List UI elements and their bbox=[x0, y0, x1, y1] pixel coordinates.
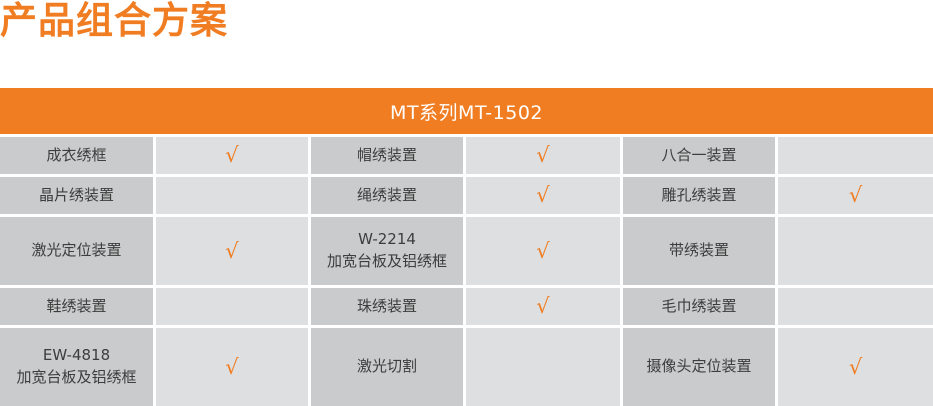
table-header-title: MT系列MT-1502 bbox=[0, 88, 933, 137]
option-label-cell: 激光定位装置 bbox=[0, 217, 156, 288]
option-label-text: 激光定位装置 bbox=[0, 240, 153, 262]
option-label-cell: 带绣装置 bbox=[623, 217, 778, 288]
option-label-cell: 帽绣装置 bbox=[311, 137, 466, 177]
option-label-cell: 摄像头定位装置 bbox=[623, 328, 778, 406]
option-label-cell: EW-4818加宽台板及铝绣框 bbox=[0, 328, 156, 406]
option-label-cell: 激光切割 bbox=[311, 328, 466, 406]
product-combination-table: MT系列MT-1502 成衣绣框√帽绣装置√八合一装置晶片绣装置绳绣装置√雕孔绣… bbox=[0, 88, 933, 406]
option-label-text: 激光切割 bbox=[311, 356, 463, 378]
option-label-text: 成衣绣框 bbox=[0, 145, 153, 167]
option-label-text: 毛巾绣装置 bbox=[623, 296, 775, 318]
option-label-cell: 晶片绣装置 bbox=[0, 177, 156, 217]
table-body: 成衣绣框√帽绣装置√八合一装置晶片绣装置绳绣装置√雕孔绣装置√激光定位装置√W-… bbox=[0, 137, 933, 406]
option-label-text: 鞋绣装置 bbox=[0, 296, 153, 318]
option-label-cell: W-2214加宽台板及铝绣框 bbox=[311, 217, 466, 288]
option-check-cell: √ bbox=[466, 177, 623, 217]
option-label-cell: 八合一装置 bbox=[623, 137, 778, 177]
table-row: 成衣绣框√帽绣装置√八合一装置 bbox=[0, 137, 933, 177]
option-check-cell: √ bbox=[778, 177, 933, 217]
option-check-cell: √ bbox=[466, 137, 623, 177]
check-icon: √ bbox=[849, 185, 862, 206]
check-icon: √ bbox=[225, 357, 238, 378]
option-label-cell: 绳绣装置 bbox=[311, 177, 466, 217]
option-label-text: 绳绣装置 bbox=[311, 185, 463, 207]
option-check-cell: √ bbox=[156, 328, 311, 406]
option-label-text: 八合一装置 bbox=[623, 145, 775, 167]
option-label-text: W-2214 bbox=[311, 229, 463, 251]
option-label-text: 雕孔绣装置 bbox=[623, 185, 775, 207]
product-combination-page: 产品组合方案 MT系列MT-1502 成衣绣框√帽绣装置√八合一装置晶片绣装置绳… bbox=[0, 0, 933, 403]
check-icon: √ bbox=[536, 145, 549, 166]
option-check-cell: √ bbox=[466, 288, 623, 328]
check-icon: √ bbox=[225, 145, 238, 166]
option-check-cell bbox=[466, 328, 623, 406]
option-check-cell bbox=[778, 137, 933, 177]
option-label-cell: 成衣绣框 bbox=[0, 137, 156, 177]
option-label-subtext: 加宽台板及铝绣框 bbox=[16, 368, 136, 386]
option-check-cell bbox=[778, 217, 933, 288]
table-row: 鞋绣装置珠绣装置√毛巾绣装置 bbox=[0, 288, 933, 328]
option-label-text: 晶片绣装置 bbox=[0, 185, 153, 207]
check-icon: √ bbox=[536, 241, 549, 262]
option-label-cell: 珠绣装置 bbox=[311, 288, 466, 328]
option-label-cell: 雕孔绣装置 bbox=[623, 177, 778, 217]
option-label-cell: 毛巾绣装置 bbox=[623, 288, 778, 328]
option-label-text: 珠绣装置 bbox=[311, 296, 463, 318]
table-row: EW-4818加宽台板及铝绣框√激光切割摄像头定位装置√ bbox=[0, 328, 933, 406]
table-row: 晶片绣装置绳绣装置√雕孔绣装置√ bbox=[0, 177, 933, 217]
option-label-text: EW-4818 bbox=[0, 345, 153, 367]
check-icon: √ bbox=[225, 241, 238, 262]
option-check-cell: √ bbox=[466, 217, 623, 288]
option-label-subtext: 加宽台板及铝绣框 bbox=[327, 252, 447, 270]
option-label-text: 带绣装置 bbox=[623, 240, 775, 262]
option-check-cell bbox=[778, 288, 933, 328]
option-check-cell: √ bbox=[156, 137, 311, 177]
table-header-row: MT系列MT-1502 bbox=[0, 88, 933, 137]
option-label-text: 帽绣装置 bbox=[311, 145, 463, 167]
option-label-cell: 鞋绣装置 bbox=[0, 288, 156, 328]
table-row: 激光定位装置√W-2214加宽台板及铝绣框√带绣装置 bbox=[0, 217, 933, 288]
option-check-cell bbox=[156, 288, 311, 328]
option-check-cell: √ bbox=[156, 217, 311, 288]
check-icon: √ bbox=[536, 296, 549, 317]
check-icon: √ bbox=[536, 185, 549, 206]
option-check-cell: √ bbox=[778, 328, 933, 406]
option-label-text: 摄像头定位装置 bbox=[623, 356, 775, 378]
page-title: 产品组合方案 bbox=[0, 0, 228, 44]
option-check-cell bbox=[156, 177, 311, 217]
check-icon: √ bbox=[849, 357, 862, 378]
